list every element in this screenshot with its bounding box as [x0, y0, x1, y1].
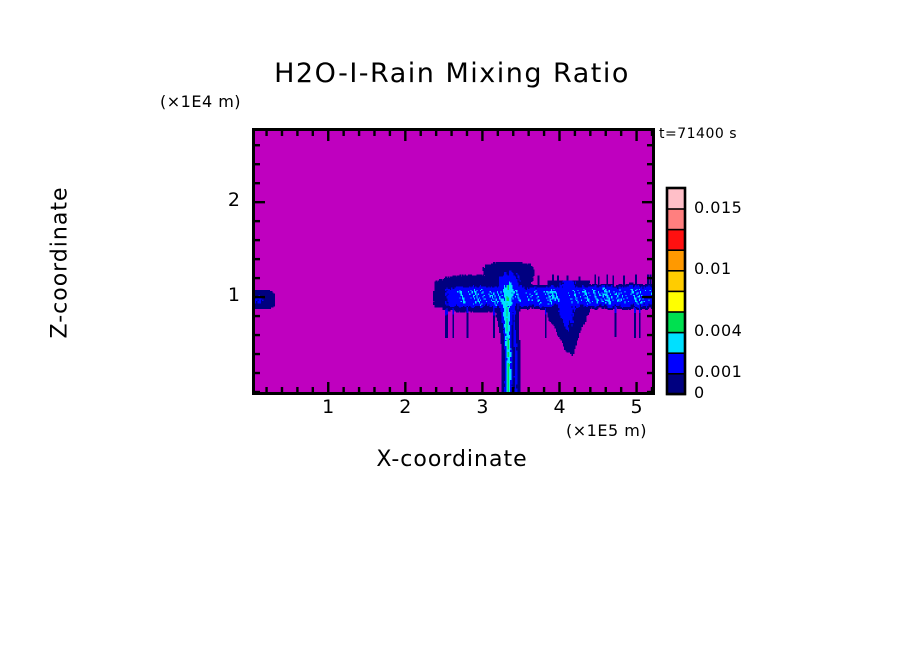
colorbar-segment: [667, 332, 685, 353]
x-tick-label: 1: [308, 396, 348, 418]
colorbar-segment: [667, 312, 685, 333]
plot-background: [255, 131, 652, 392]
y-tick-label: 1: [218, 284, 240, 306]
colorbar-segment: [667, 270, 685, 291]
colorbar-tick-label: 0: [694, 383, 705, 402]
colorbar-tick-label: 0.001: [694, 362, 742, 381]
plot-canvas: [0, 0, 904, 654]
colorbar-segment: [667, 353, 685, 374]
colorbar-segment: [667, 229, 685, 250]
figure-root: H2O-I-Rain Mixing Ratio (×1E4 m) t=71400…: [0, 0, 904, 654]
colorbar: [667, 188, 685, 394]
x-tick-label: 2: [385, 396, 425, 418]
colorbar-segment: [667, 209, 685, 230]
y-tick-label: 2: [218, 189, 240, 211]
colorbar-segment: [667, 291, 685, 312]
x-tick-label: 5: [617, 396, 657, 418]
colorbar-tick-label: 0.01: [694, 259, 732, 278]
x-tick-label: 4: [539, 396, 579, 418]
colorbar-segment: [667, 373, 685, 394]
colorbar-segment: [667, 250, 685, 271]
colorbar-tick-label: 0.004: [694, 321, 742, 340]
x-tick-label: 3: [462, 396, 502, 418]
colorbar-segment: [667, 188, 685, 209]
colorbar-tick-label: 0.015: [694, 198, 742, 217]
